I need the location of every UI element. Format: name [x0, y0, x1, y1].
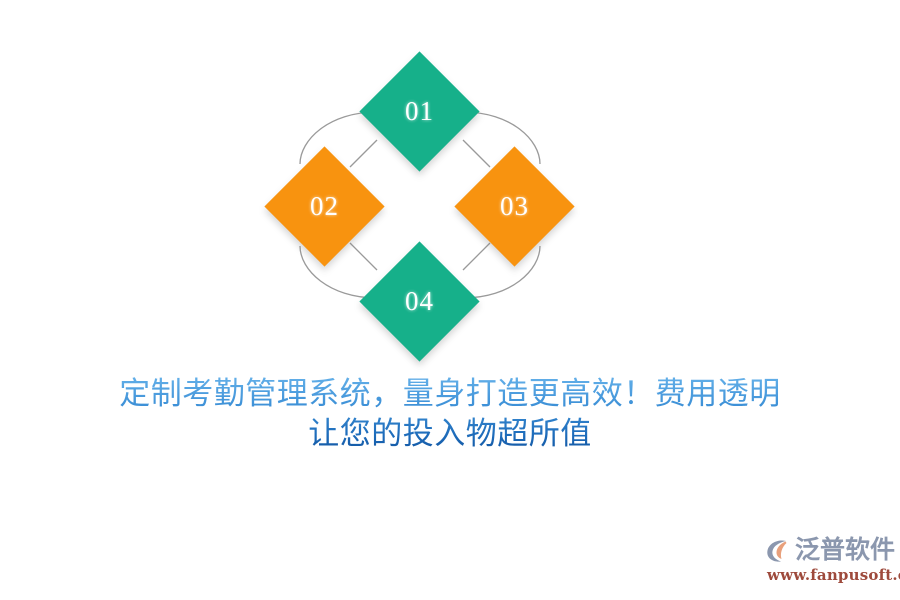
logo-website-url: www.fanpusoft.com [767, 566, 900, 584]
fanpu-swoosh-icon [762, 535, 792, 565]
inner-line-bottom-right [463, 243, 490, 270]
brand-logo[interactable]: 泛普软件 www.fanpusoft.com [762, 533, 894, 589]
caption-text: 定制考勤管理系统，量身打造更高效！费用透明 让您的投入物超所值 [0, 374, 900, 454]
inner-arc-top-left [367, 133, 380, 165]
node-03-label: 03 [500, 193, 529, 220]
node-04-label: 04 [405, 288, 434, 315]
inner-line-top-right [463, 140, 490, 167]
petal-arc-top-left [300, 112, 377, 164]
page-canvas: 01 02 03 04 定制考勤管理系统，量身打造更高效！费用透明 让您的投入物… [0, 0, 900, 600]
logo-row: 泛普软件 [762, 533, 895, 567]
node-02-label: 02 [310, 193, 339, 220]
inner-line-top-left [350, 140, 377, 167]
petal-arc-top-right [463, 112, 540, 164]
caption-line-2: 让您的投入物超所值 [0, 414, 900, 454]
four-node-diamond-diagram: 01 02 03 04 [255, 40, 585, 370]
inner-line-bottom-left [350, 243, 377, 270]
logo-company-name: 泛普软件 [795, 535, 895, 565]
node-01-label: 01 [405, 98, 434, 125]
caption-line-1: 定制考勤管理系统，量身打造更高效！费用透明 [0, 374, 900, 414]
